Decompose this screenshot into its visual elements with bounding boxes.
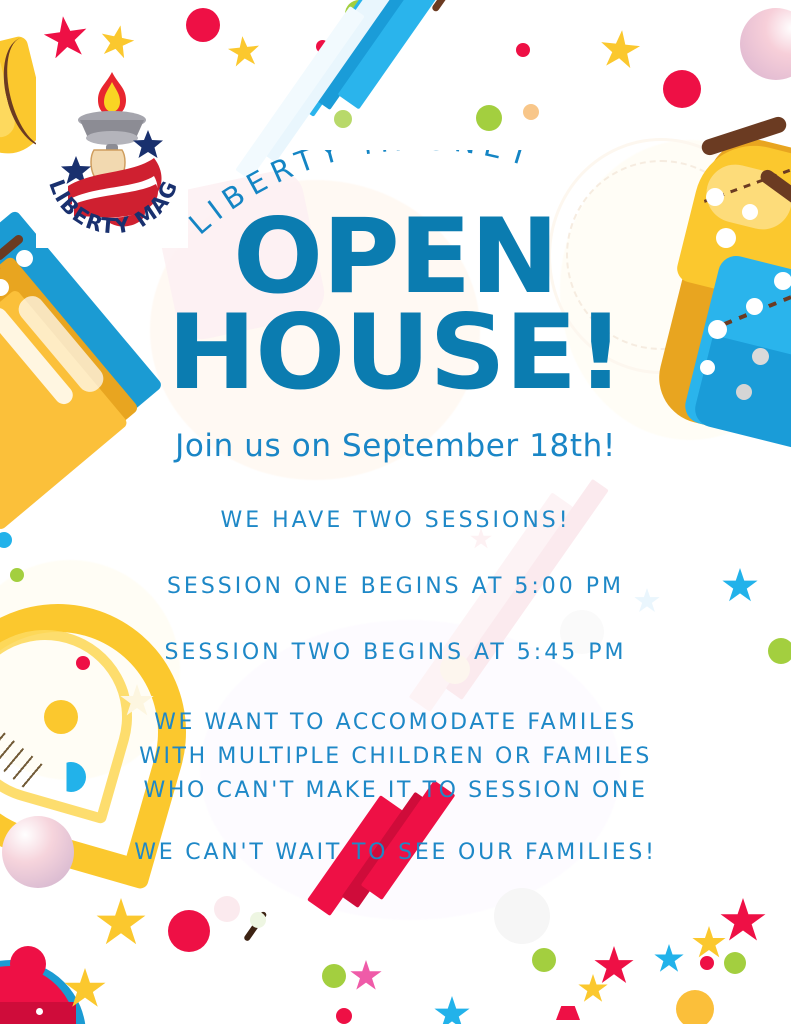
session-one-line: SESSION ONE BEGINS AT 5:00 PM: [0, 574, 791, 599]
accommodation-paragraph: WE WANT TO ACCOMODATE FAMILES WITH MULTI…: [0, 706, 791, 808]
page-title: OPEN HOUSE!: [0, 210, 791, 402]
open-house-flyer: LIBERTY MAGNET LIBERTY MAGNET OPEN HOUSE…: [0, 0, 791, 1024]
accommodation-line: WITH MULTIPLE CHILDREN OR FAMILES: [0, 740, 791, 774]
closing-line: WE CAN'T WAIT TO SEE OUR FAMILIES!: [0, 840, 791, 865]
accommodation-line: WE WANT TO ACCOMODATE FAMILES: [0, 706, 791, 740]
event-date-subhead: Join us on September 18th!: [0, 428, 791, 464]
headline-line-1: OPEN: [0, 210, 791, 306]
accommodation-line: WHO CAN'T MAKE IT TO SESSION ONE: [0, 774, 791, 808]
session-two-line: SESSION TWO BEGINS AT 5:45 PM: [0, 640, 791, 665]
headline-line-2: HOUSE!: [0, 306, 791, 402]
sessions-intro-line: WE HAVE TWO SESSIONS!: [0, 508, 791, 533]
